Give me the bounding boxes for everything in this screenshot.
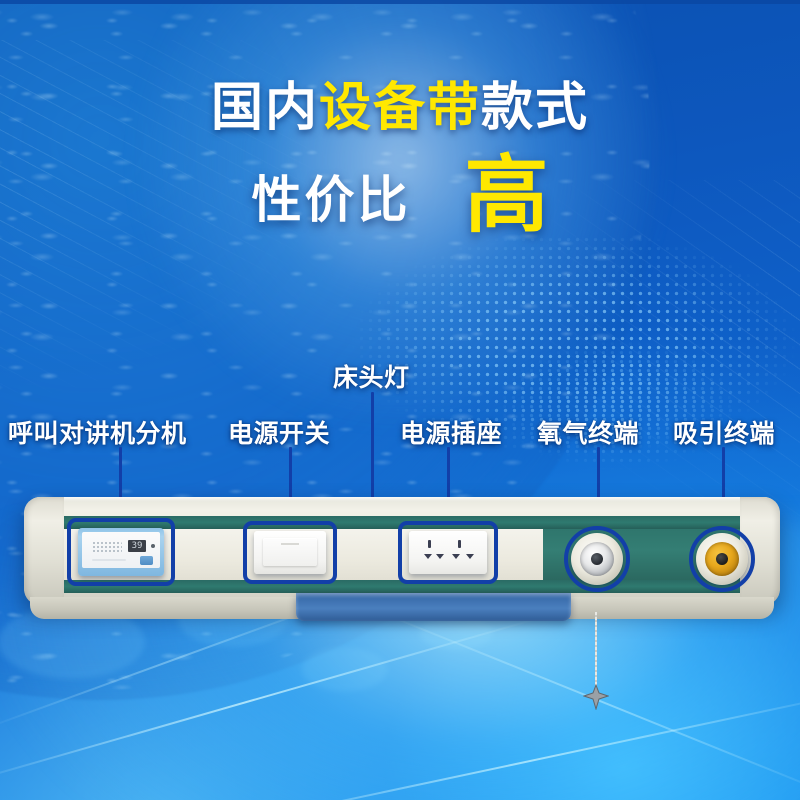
- callout-label-power-switch: 电源开关: [228, 414, 330, 450]
- headline-text-part1: 国内: [211, 79, 319, 137]
- bedside-lamp-diffuser: [296, 593, 571, 621]
- pull-cord-weight[interactable]: [583, 684, 609, 710]
- cross-weight-icon: [583, 684, 609, 710]
- headline-line-1: 国内设备带款式: [0, 82, 800, 134]
- callout-label-power-socket: 电源插座: [400, 414, 502, 450]
- headline-subtitle: 性价比: [251, 160, 410, 232]
- headline-line-2: 性价比 高: [0, 158, 800, 234]
- panel-end-cap-left: [24, 497, 64, 605]
- highlight-box-intercom: [67, 518, 175, 586]
- top-edge-bar: [0, 0, 800, 4]
- highlight-box-power-switch: [243, 521, 337, 584]
- highlight-circle-suction: [689, 526, 755, 592]
- callout-label-intercom: 呼叫对讲机分机: [8, 414, 187, 450]
- headline-text-part2: 款式: [481, 79, 589, 137]
- headline-text-highlight: 设备带: [319, 79, 481, 137]
- lamp-pull-cord[interactable]: [595, 612, 597, 690]
- highlight-circle-oxygen: [564, 526, 630, 592]
- headline-emphasis: 高: [464, 158, 548, 234]
- callout-label-bedside-lamp: 床头灯: [333, 358, 410, 394]
- callout-label-suction: 吸引终端: [673, 414, 775, 450]
- highlight-box-power-socket: [398, 521, 498, 584]
- headline-block: 国内设备带款式 性价比 高: [0, 82, 800, 234]
- poster-canvas: 国内设备带款式 性价比 高 呼叫对讲机分机 电源开关 床头灯 电源插座 氧气终端…: [0, 0, 800, 800]
- callout-label-oxygen: 氧气终端: [537, 414, 639, 450]
